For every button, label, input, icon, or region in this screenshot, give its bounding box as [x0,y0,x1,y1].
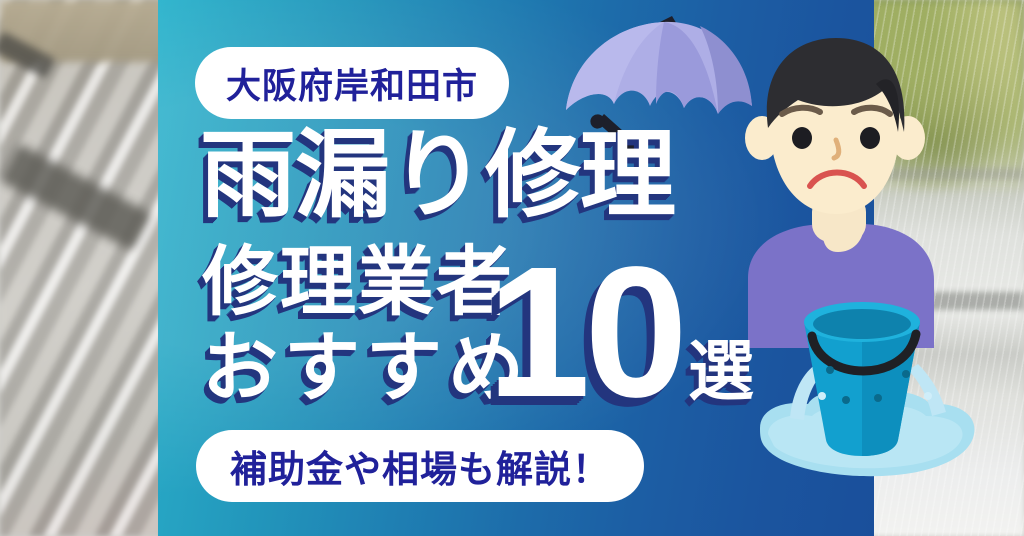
subtitle-line-2: おすすめ [202,331,530,407]
count-unit: 選 [688,338,754,404]
footer-badge: 補助金や相場も解説！ [196,430,644,502]
footer-badge-label: 補助金や相場も解説！ [230,439,610,493]
page-title: 雨漏り修理 [200,128,675,224]
leaking-bucket-icon [742,278,984,488]
region-badge-label: 大阪府岸和田市 [226,58,478,109]
subtitle-line-1: 修理業者 [202,245,514,321]
count-number: 10 [487,240,682,426]
banner-image: 大阪府岸和田市 雨漏り修理 修理業者 おすすめ 10 選 補助金や相場も解説！ [0,0,1024,536]
region-badge: 大阪府岸和田市 [195,47,509,119]
